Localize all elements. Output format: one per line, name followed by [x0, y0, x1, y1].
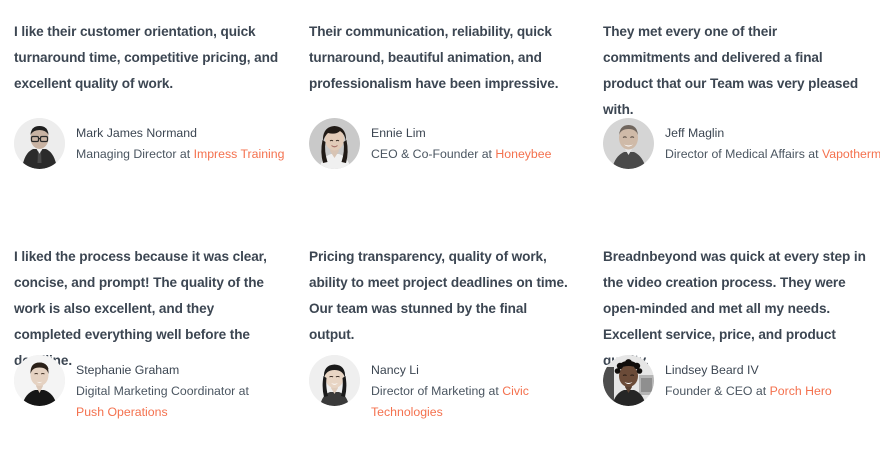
testimonial-author: Nancy Li Director of Marketing at Civic …: [309, 355, 603, 423]
testimonial-card: I like their customer orientation, quick…: [14, 0, 309, 225]
author-company-link[interactable]: Porch Hero: [770, 384, 832, 398]
author-company-link[interactable]: Honeybee: [495, 147, 551, 161]
avatar-jeff-maglin: [603, 118, 654, 169]
testimonial-author: Ennie Lim CEO & Co-Founder at Honeybee: [309, 118, 551, 169]
avatar-nancy-li: [309, 355, 360, 406]
author-role: Digital Marketing Coordinator at Push Op…: [76, 381, 276, 423]
testimonial-card: Breadnbeyond was quick at every step in …: [603, 225, 880, 449]
testimonial-quote: I like their customer orientation, quick…: [14, 0, 281, 97]
testimonial-card: Their communication, reliability, quick …: [309, 0, 603, 225]
author-role: Managing Director at Impress Training: [76, 144, 284, 165]
author-name: Jeff Maglin: [665, 123, 880, 144]
testimonial-card: I liked the process because it was clear…: [14, 225, 309, 449]
author-role: CEO & Co-Founder at Honeybee: [371, 144, 551, 165]
testimonial-quote: Their communication, reliability, quick …: [309, 0, 575, 97]
author-text: Jeff Maglin Director of Medical Affairs …: [654, 118, 880, 165]
testimonial-card: They met every one of their commitments …: [603, 0, 880, 225]
author-role: Founder & CEO at Porch Hero: [665, 381, 832, 402]
avatar-stephanie-graham: [14, 355, 65, 406]
author-text: Mark James Normand Managing Director at …: [65, 118, 284, 165]
testimonial-author: Lindsey Beard IV Founder & CEO at Porch …: [603, 355, 832, 406]
author-name: Mark James Normand: [76, 123, 284, 144]
author-role-prefix: Managing Director at: [76, 147, 194, 161]
testimonial-author: Mark James Normand Managing Director at …: [14, 118, 284, 169]
testimonial-quote: I liked the process because it was clear…: [14, 225, 281, 374]
author-text: Nancy Li Director of Marketing at Civic …: [360, 355, 603, 423]
author-role-prefix: Digital Marketing Coordinator at: [76, 384, 249, 398]
avatar-ennie-lim: [309, 118, 360, 169]
author-company-link[interactable]: Push Operations: [76, 405, 168, 419]
author-text: Lindsey Beard IV Founder & CEO at Porch …: [654, 355, 832, 402]
avatar-mark-james-normand: [14, 118, 65, 169]
testimonial-quote: Breadnbeyond was quick at every step in …: [603, 225, 866, 374]
testimonial-author: Jeff Maglin Director of Medical Affairs …: [603, 118, 880, 169]
author-text: Ennie Lim CEO & Co-Founder at Honeybee: [360, 118, 551, 165]
author-role: Director of Marketing at Civic Technolog…: [371, 381, 603, 423]
testimonial-author: Stephanie Graham Digital Marketing Coord…: [14, 355, 276, 423]
author-role: Director of Medical Affairs at Vapotherm: [665, 144, 880, 165]
author-company-link[interactable]: Vapotherm: [822, 147, 880, 161]
testimonial-quote: Pricing transparency, quality of work, a…: [309, 225, 575, 348]
testimonial-card: Pricing transparency, quality of work, a…: [309, 225, 603, 449]
author-name: Nancy Li: [371, 360, 603, 381]
author-name: Stephanie Graham: [76, 360, 276, 381]
author-role-prefix: CEO & Co-Founder at: [371, 147, 495, 161]
testimonial-grid: I like their customer orientation, quick…: [0, 0, 880, 449]
avatar-lindsey-beard-iv: [603, 355, 654, 406]
author-text: Stephanie Graham Digital Marketing Coord…: [65, 355, 276, 423]
author-role-prefix: Director of Marketing at: [371, 384, 502, 398]
author-name: Ennie Lim: [371, 123, 551, 144]
author-role-prefix: Founder & CEO at: [665, 384, 770, 398]
author-name: Lindsey Beard IV: [665, 360, 832, 381]
author-company-link[interactable]: Impress Training: [194, 147, 285, 161]
author-role-prefix: Director of Medical Affairs at: [665, 147, 822, 161]
testimonial-quote: They met every one of their commitments …: [603, 0, 866, 123]
